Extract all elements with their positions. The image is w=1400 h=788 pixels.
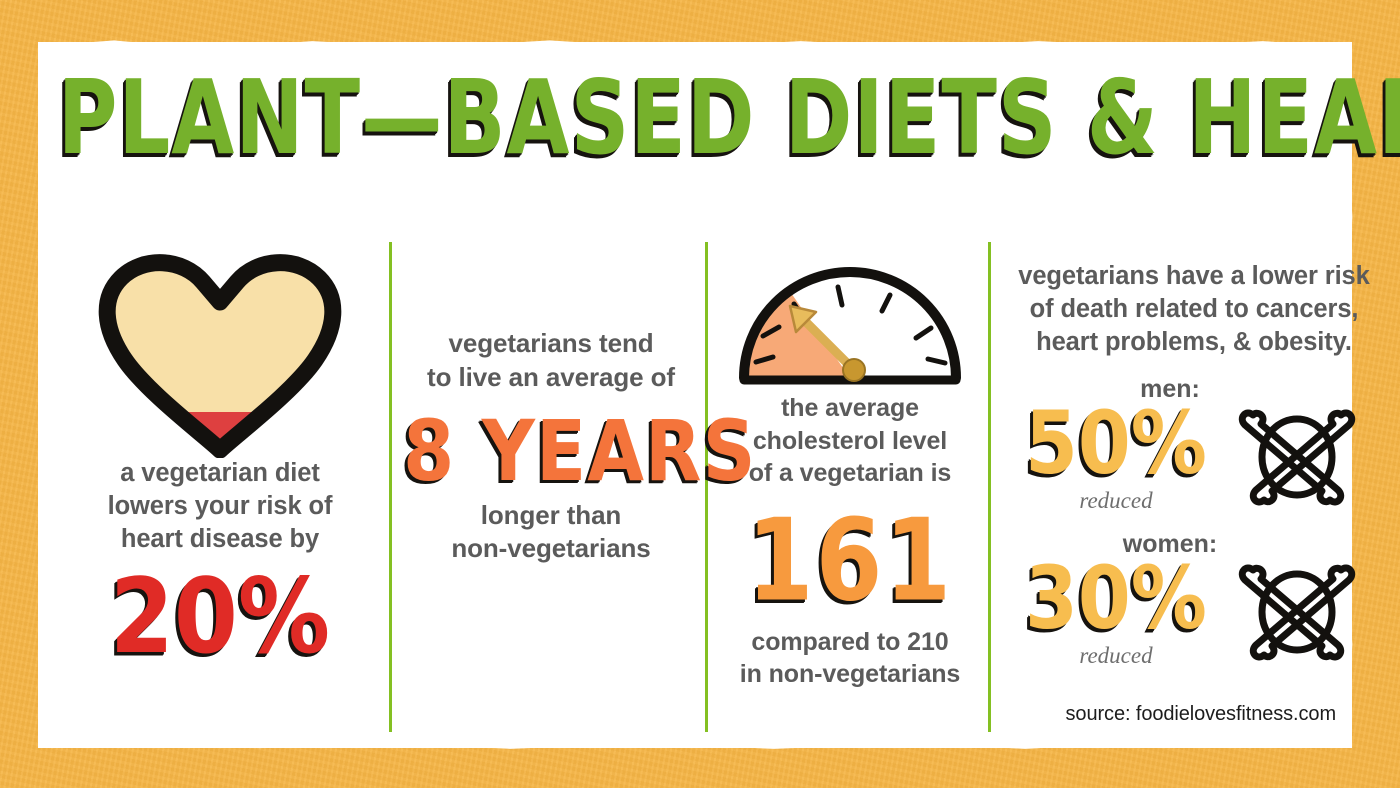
column-mortality: vegetarians have a lower risk of death r…	[1000, 260, 1388, 669]
column-divider-3	[988, 242, 991, 732]
column-cholesterol: the average cholesterol level of a veget…	[716, 242, 984, 691]
heart-text-line-3: heart disease by	[60, 523, 380, 556]
mortality-group-men: men: 50% reduced	[1000, 375, 1388, 514]
infographic-poster: PLANT—BASED DIETS & HEALTH	[0, 0, 1400, 788]
mortality-lead-line-3: heart problems, & obesity.	[1000, 326, 1388, 359]
column-lifespan: vegetarians tend to live an average of 8…	[406, 327, 696, 566]
lifespan-text-line-3: longer than	[406, 499, 696, 533]
heart-icon	[95, 246, 345, 458]
column-divider-1	[389, 242, 392, 732]
heart-text-line-2: lowers your risk of	[60, 490, 380, 523]
cholesterol-text-line-1: the average	[716, 392, 984, 425]
source-credit: source: foodielovesfitness.com	[1066, 703, 1336, 726]
lifespan-text-line-1: vegetarians tend	[406, 327, 696, 361]
skull-and-crossbones-icon	[1222, 405, 1372, 509]
heart-disease-stat: 20%	[60, 566, 380, 669]
cholesterol-text-line-5: in non-vegetarians	[716, 658, 984, 691]
cholesterol-text-line-2: cholesterol level	[716, 425, 984, 458]
heart-text-line-1: a vegetarian diet	[60, 457, 380, 490]
mortality-group-women: women: 30% reduced	[1000, 530, 1388, 669]
skull-icon-wrapper-men	[1222, 405, 1372, 509]
mortality-lead-line-1: vegetarians have a lower risk	[1000, 260, 1388, 293]
gauge-icon	[732, 262, 968, 388]
cholesterol-text-line-4: compared to 210	[716, 626, 984, 659]
heart-icon-wrapper	[60, 242, 380, 457]
gauge-icon-wrapper	[716, 242, 984, 392]
lifespan-text-line-2: to live an average of	[406, 361, 696, 395]
column-heart-disease: a vegetarian diet lowers your risk of he…	[60, 242, 380, 658]
skull-and-crossbones-icon	[1222, 560, 1372, 664]
mortality-stat-women: 30%	[1016, 555, 1216, 642]
mortality-stat-men: 50%	[1016, 400, 1216, 487]
page-title: PLANT—BASED DIETS & HEALTH	[58, 58, 1333, 178]
lifespan-text-line-4: non-vegetarians	[406, 532, 696, 566]
cholesterol-stat: 161	[716, 504, 984, 617]
mortality-lead-line-2: of death related to cancers,	[1000, 293, 1388, 326]
poster-card: PLANT—BASED DIETS & HEALTH	[38, 42, 1352, 748]
lifespan-stat: 8 YEARS	[403, 409, 699, 493]
skull-icon-wrapper-women	[1222, 560, 1372, 664]
cholesterol-text-line-3: of a vegetarian is	[716, 457, 984, 490]
